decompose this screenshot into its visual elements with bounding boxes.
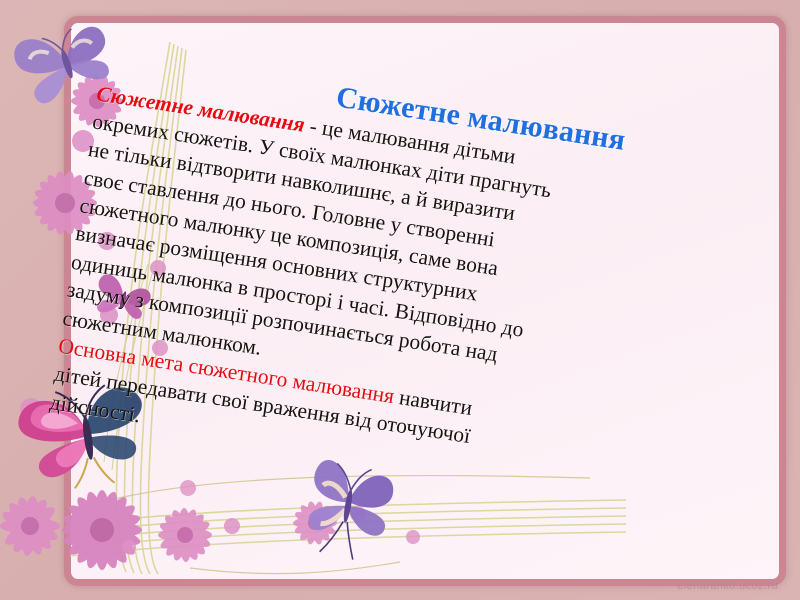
slide-frame bbox=[64, 16, 786, 586]
watermark: elenaranko.ucoz.ru bbox=[677, 580, 778, 592]
slide-canvas: Сюжетне малювання Сюжетне малювання - це… bbox=[0, 0, 800, 600]
slide-paper bbox=[71, 23, 779, 579]
